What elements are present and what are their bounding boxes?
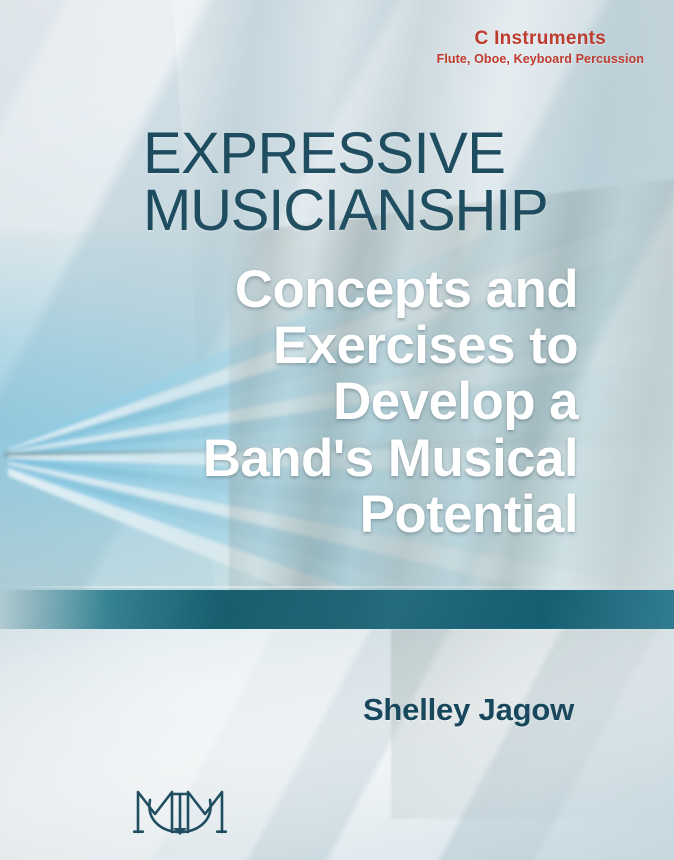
subtitle: Concepts and Exercises to Develop a Band… — [138, 262, 578, 543]
subtitle-line-1: Concepts and — [138, 262, 578, 318]
page-title: EXPRESSIVE MUSICIANSHIP — [143, 126, 563, 240]
author-name: Shelley Jagow — [363, 692, 574, 728]
subtitle-line-4: Band's Musical — [138, 431, 578, 487]
publisher-logo-icon — [128, 778, 232, 836]
teal-band-sheen — [0, 590, 674, 629]
teal-band-hairline — [0, 586, 674, 588]
instrument-header: C Instruments Flute, Oboe, Keyboard Perc… — [437, 28, 644, 66]
title-line-1: EXPRESSIVE — [143, 126, 563, 183]
book-cover: C Instruments Flute, Oboe, Keyboard Perc… — [0, 0, 674, 860]
subtitle-line-3: Develop a — [138, 374, 578, 430]
subtitle-line-2: Exercises to — [138, 318, 578, 374]
instrument-header-sub: Flute, Oboe, Keyboard Percussion — [437, 52, 644, 66]
instrument-header-main: C Instruments — [437, 28, 644, 50]
teal-divider-band — [0, 590, 674, 629]
subtitle-line-5: Potential — [138, 487, 578, 543]
title-line-2: MUSICIANSHIP — [143, 183, 563, 240]
